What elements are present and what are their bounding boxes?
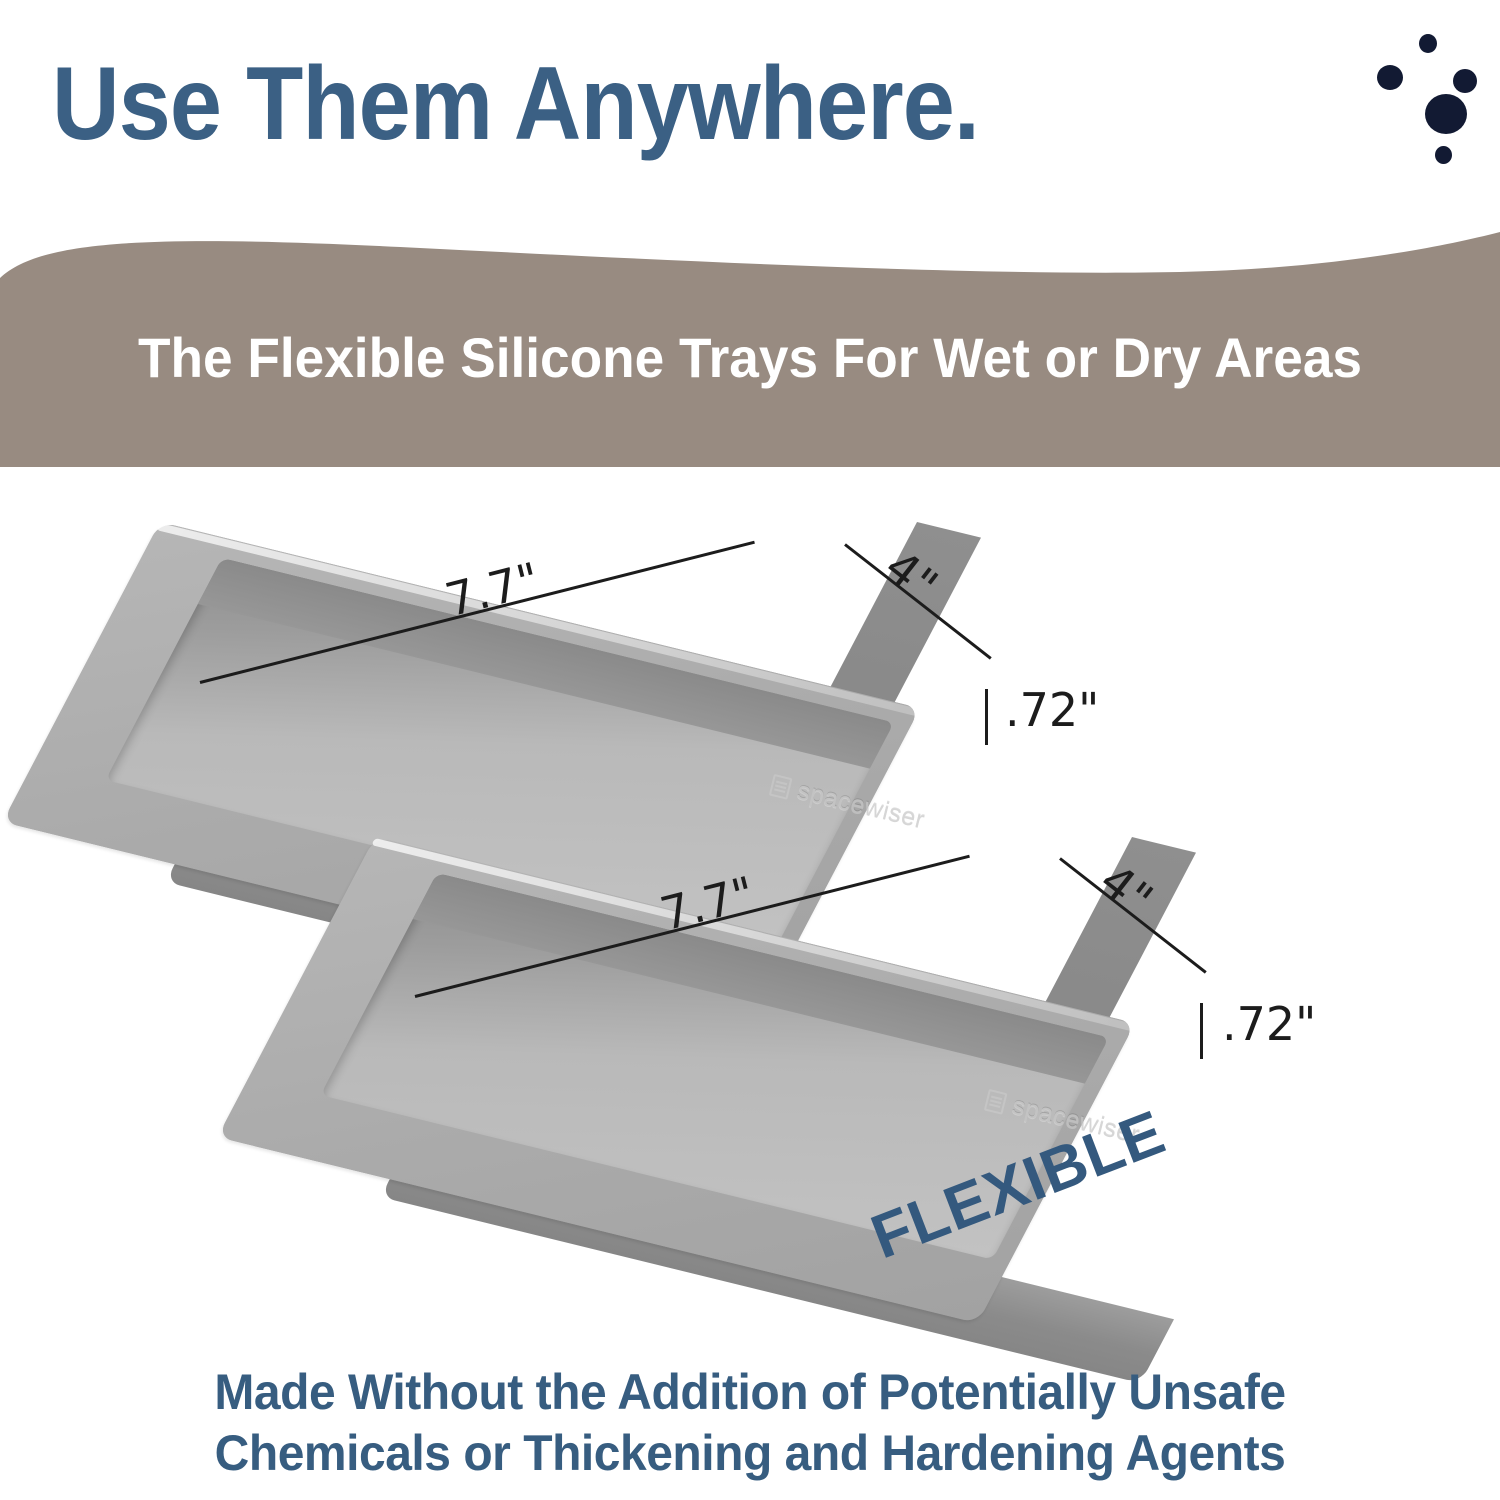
subtitle-banner: The Flexible Silicone Trays For Wet or D… — [0, 226, 1500, 467]
dim-label-height-lower: .72" — [1222, 997, 1316, 1051]
decor-dot-icon — [1435, 146, 1452, 164]
dim-tick-height-upper — [985, 689, 988, 745]
spacewiser-mark-icon — [769, 773, 793, 799]
decor-dot-icon — [1419, 34, 1437, 53]
banner-subtitle: The Flexible Silicone Trays For Wet or D… — [38, 226, 1463, 467]
decor-dot-icon — [1453, 69, 1477, 93]
bottom-caption: Made Without the Addition of Potentially… — [0, 1362, 1500, 1484]
page-title: Use Them Anywhere. — [52, 52, 979, 156]
product-illustration: spacewiser 7.7" 4" .72" spacewiser — [0, 467, 1500, 1347]
dim-label-height-upper: .72" — [1005, 683, 1099, 737]
decorative-dot-cluster — [1355, 22, 1485, 162]
decor-dot-icon — [1377, 65, 1403, 90]
spacewiser-mark-icon — [984, 1088, 1008, 1114]
dim-tick-height-lower — [1200, 1003, 1203, 1059]
infographic-page: Use Them Anywhere. The Flexible Silicone… — [0, 0, 1500, 1500]
decor-dot-icon — [1425, 94, 1467, 134]
caption-line-1: Made Without the Addition of Potentially… — [30, 1362, 1470, 1423]
caption-line-2: Chemicals or Thickening and Hardening Ag… — [30, 1423, 1470, 1484]
